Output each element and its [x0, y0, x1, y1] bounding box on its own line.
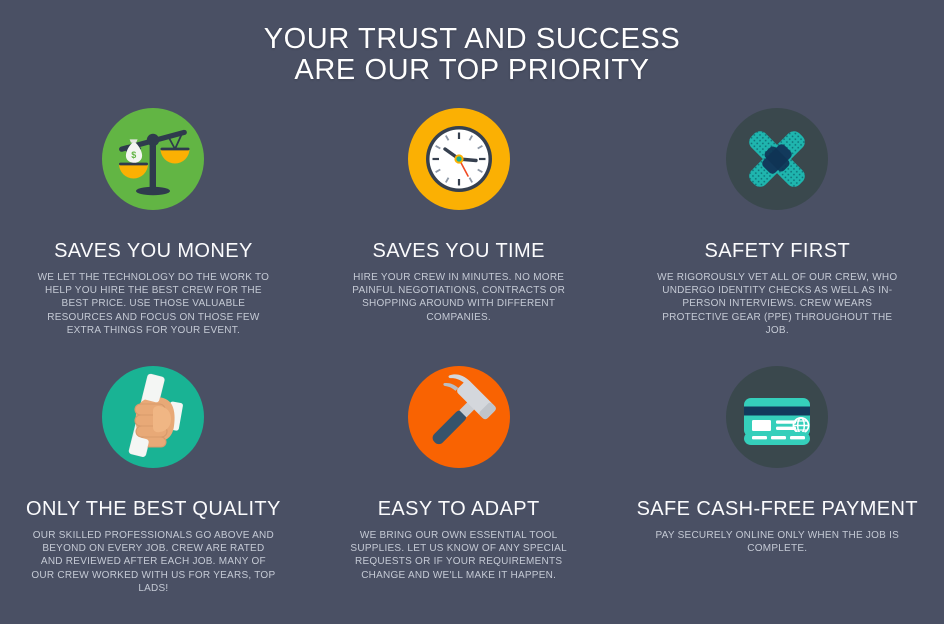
page-title-line-2: ARE OUR TOP PRIORITY [0, 55, 944, 86]
hand-holding-diploma-glyph [102, 366, 204, 468]
feature-body: HIRE YOUR CREW IN MINUTES. NO MORE PAINF… [337, 271, 581, 324]
feature-card-easy-to-adapt: EASY TO ADAPT WE BRING OUR OWN ESSENTIAL… [307, 366, 611, 624]
feature-heading: ONLY THE BEST QUALITY [26, 498, 281, 520]
feature-card-safe-cash-free-payment: SAFE CASH-FREE PAYMENT PAY SECURELY ONLI… [611, 366, 944, 624]
feature-body: PAY SECURELY ONLINE ONLY WHEN THE JOB IS… [655, 529, 899, 555]
feature-body: WE RIGOROUSLY VET ALL OF OUR CREW, WHO U… [655, 271, 899, 337]
clock-icon [408, 108, 510, 210]
hand-holding-diploma-icon [102, 366, 204, 468]
feature-card-only-the-best-quality: ONLY THE BEST QUALITY OUR SKILLED PROFES… [0, 366, 307, 624]
page-title: YOUR TRUST AND SUCCESS ARE OUR TOP PRIOR… [0, 0, 944, 86]
crossed-bandages-icon [726, 108, 828, 210]
clock-glyph [408, 108, 510, 210]
feature-card-safety-first: SAFETY FIRST WE RIGOROUSLY VET ALL OF OU… [611, 108, 944, 366]
feature-grid: $ SAVES YOU MONEY WE LET THE TECHNOLOGY … [0, 108, 944, 624]
feature-body: OUR SKILLED PROFESSIONALS GO ABOVE AND B… [31, 529, 275, 595]
balance-scale-money-glyph: $ [102, 108, 204, 210]
svg-text:$: $ [132, 150, 137, 160]
feature-heading: SAVES YOU TIME [373, 240, 545, 262]
balance-scale-money-icon: $ [102, 108, 204, 210]
feature-heading: SAVES YOU MONEY [54, 240, 253, 262]
crossed-bandages-glyph [726, 108, 828, 210]
feature-heading: SAFE CASH-FREE PAYMENT [637, 498, 918, 520]
feature-body: WE BRING OUR OWN ESSENTIAL TOOL SUPPLIES… [337, 529, 581, 582]
hammer-glyph [408, 366, 510, 468]
feature-card-saves-you-time: SAVES YOU TIME HIRE YOUR CREW IN MINUTES… [307, 108, 611, 366]
page-title-line-1: YOUR TRUST AND SUCCESS [0, 24, 944, 55]
feature-heading: SAFETY FIRST [705, 240, 851, 262]
hammer-icon [408, 366, 510, 468]
feature-body: WE LET THE TECHNOLOGY DO THE WORK TO HEL… [31, 271, 275, 337]
credit-card-icon [726, 366, 828, 468]
feature-card-saves-you-money: $ SAVES YOU MONEY WE LET THE TECHNOLOGY … [0, 108, 307, 366]
credit-card-glyph [726, 366, 828, 468]
feature-highlights-page: YOUR TRUST AND SUCCESS ARE OUR TOP PRIOR… [0, 0, 944, 617]
feature-heading: EASY TO ADAPT [378, 498, 540, 520]
